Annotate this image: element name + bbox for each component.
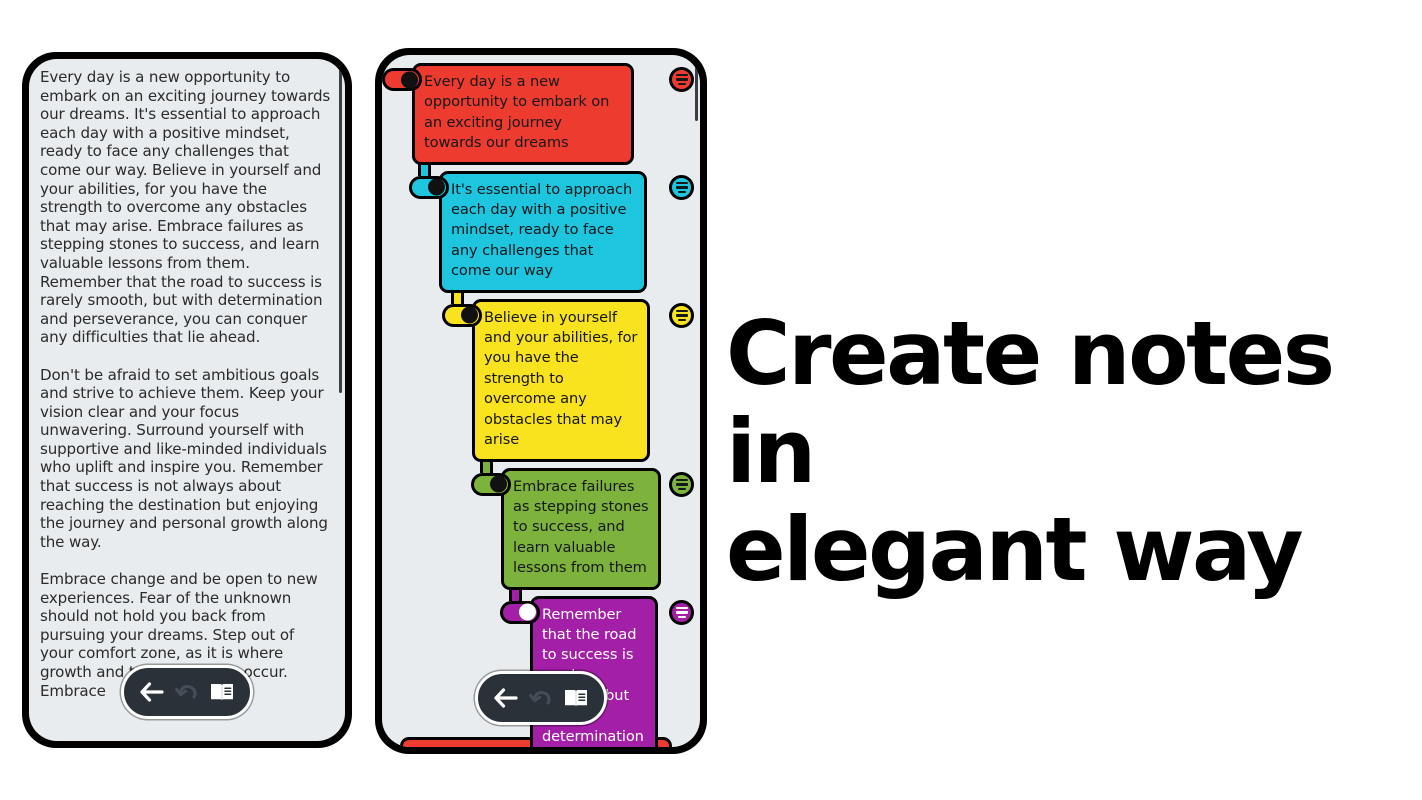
menu-line: [676, 310, 688, 312]
note-menu-icon[interactable]: [669, 600, 694, 625]
menu-line: [676, 78, 688, 80]
note-toggle-switch[interactable]: [500, 601, 540, 624]
document-paragraph: Every day is a new opportunity to embark…: [40, 68, 331, 347]
undo-arrow-icon[interactable]: [175, 682, 199, 702]
toggle-knob: [519, 604, 536, 621]
note-menu-icon[interactable]: [669, 67, 694, 92]
note-toggle-switch[interactable]: [471, 473, 511, 496]
note-text: Believe in yourself and your abilities, …: [484, 309, 637, 448]
navigation-bar-left: [121, 665, 253, 719]
document-paragraph: Don't be afraid to set ambitious goals a…: [40, 366, 331, 552]
menu-line: [676, 186, 688, 188]
menu-line: [676, 483, 688, 485]
notes-scrollbar[interactable]: [695, 61, 698, 121]
menu-line: [678, 488, 686, 490]
book-icon[interactable]: [209, 681, 235, 703]
back-arrow-icon[interactable]: [493, 687, 519, 709]
app-screenshot: Every day is a new opportunity to embark…: [0, 0, 1422, 800]
menu-line: [676, 479, 688, 481]
phone-left: Every day is a new opportunity to embark…: [22, 52, 352, 748]
note-toggle-switch[interactable]: [382, 68, 422, 91]
menu-line: [678, 191, 686, 193]
toggle-knob: [490, 476, 507, 493]
note-row[interactable]: Embrace failures as stepping stones to s…: [471, 468, 700, 590]
notes-outline-list[interactable]: Every day is a new opportunity to embark…: [382, 55, 700, 747]
note-text: Embrace failures as stepping stones to s…: [513, 478, 649, 577]
menu-line: [676, 607, 688, 609]
menu-line: [678, 83, 686, 85]
note-text: Every day is a new opportunity to embark…: [424, 73, 609, 151]
note-menu-icon[interactable]: [669, 303, 694, 328]
menu-line: [678, 616, 686, 618]
plain-text-document[interactable]: Every day is a new opportunity to embark…: [29, 59, 345, 741]
navigation-bar-right: [475, 671, 607, 725]
back-arrow-icon[interactable]: [139, 681, 165, 703]
menu-line: [676, 182, 688, 184]
note-toggle-switch[interactable]: [409, 176, 449, 199]
headline-line-2: elegant way: [726, 501, 1386, 599]
phone-right: Every day is a new opportunity to embark…: [375, 48, 707, 754]
menu-line: [678, 319, 686, 321]
menu-line: [676, 611, 688, 613]
note-card[interactable]: It's essential to approach each day with…: [439, 171, 647, 293]
note-row[interactable]: Every day is a new opportunity to embark…: [382, 63, 700, 165]
marketing-headline: Create notes in elegant way: [726, 305, 1386, 599]
note-row[interactable]: It's essential to approach each day with…: [409, 171, 700, 293]
note-card[interactable]: Embrace failures as stepping stones to s…: [501, 468, 661, 590]
toggle-knob: [401, 71, 418, 88]
document-scrollbar[interactable]: [339, 63, 342, 393]
note-text: It's essential to approach each day with…: [451, 181, 632, 280]
book-icon[interactable]: [563, 687, 589, 709]
phone-right-screen: Every day is a new opportunity to embark…: [382, 55, 700, 747]
note-card[interactable]: Believe in yourself and your abilities, …: [472, 299, 650, 462]
headline-line-1: Create notes in: [726, 305, 1386, 501]
toggle-knob: [461, 307, 478, 324]
note-menu-icon[interactable]: [669, 472, 694, 497]
menu-line: [676, 74, 688, 76]
phone-left-screen: Every day is a new opportunity to embark…: [29, 59, 345, 741]
note-row[interactable]: Believe in yourself and your abilities, …: [442, 299, 700, 462]
undo-arrow-icon[interactable]: [529, 688, 553, 708]
toggle-knob: [428, 179, 445, 196]
note-toggle-switch[interactable]: [442, 304, 482, 327]
menu-line: [676, 314, 688, 316]
note-menu-icon[interactable]: [669, 175, 694, 200]
note-card[interactable]: Every day is a new opportunity to embark…: [412, 63, 634, 165]
